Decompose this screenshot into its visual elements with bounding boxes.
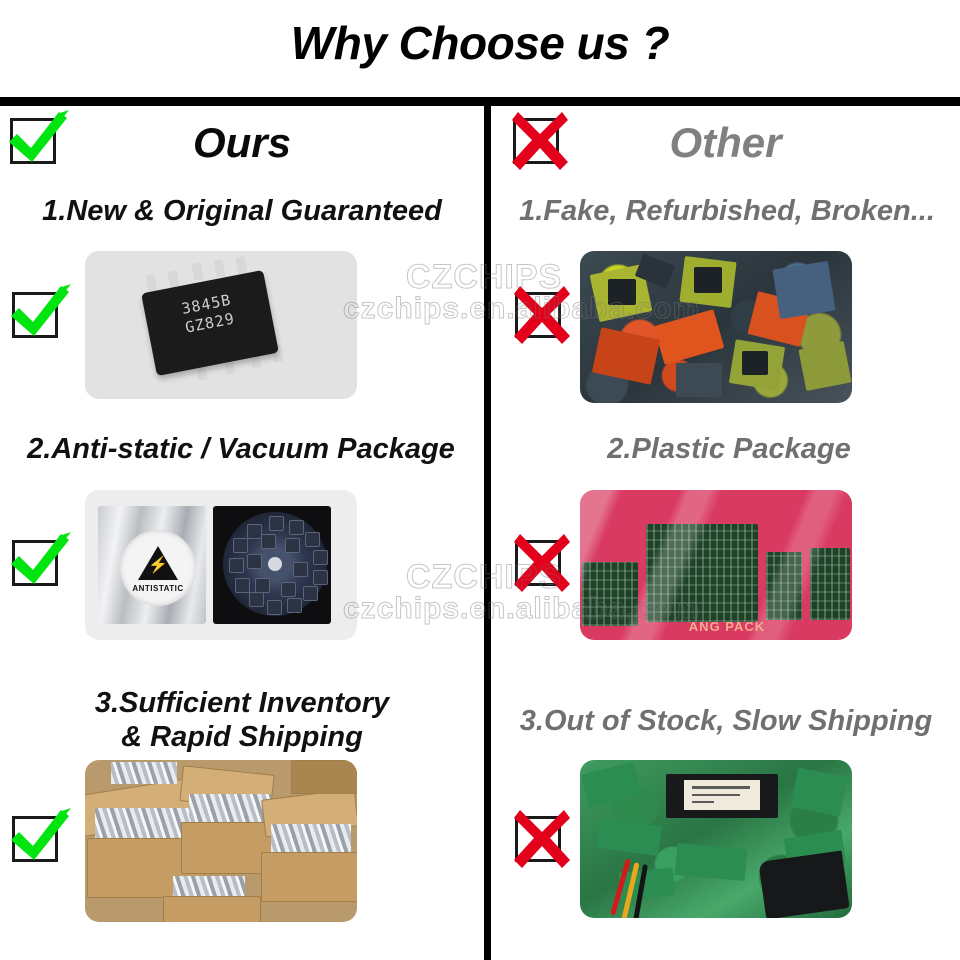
esd-caption-text: ANTISTATIC	[120, 584, 196, 593]
column-other: Other 1.Fake, Refurbished, Broken... 2.P…	[491, 106, 960, 960]
scrap-chips-photo	[580, 251, 852, 403]
feature-label-other-1: 1.Fake, Refurbished, Broken...	[497, 194, 957, 228]
plastic-bag-photo: ANG PACK	[580, 490, 852, 640]
check-mark-ours-3	[12, 816, 58, 862]
cross-mark-header	[513, 118, 559, 164]
column-heading-ours: Ours	[0, 112, 484, 174]
feature-label-ours-1: 1.New & Original Guaranteed	[8, 194, 476, 228]
waste-module	[666, 774, 778, 818]
stock-cartons-photo	[85, 760, 357, 922]
check-icon	[3, 802, 75, 874]
check-mark-ours-1	[12, 292, 58, 338]
page-title: Why Choose us ?	[0, 8, 960, 78]
reel-hub	[268, 557, 282, 571]
cross-icon	[506, 802, 578, 874]
lightning-bolt-icon: ⚡	[148, 558, 168, 574]
cross-icon	[506, 526, 578, 598]
check-icon	[3, 526, 75, 598]
waste-black-pad	[758, 850, 849, 918]
chip-marking-text: 3845B GZ829	[144, 284, 273, 345]
component-reel-tray	[213, 506, 331, 624]
cross-icon	[506, 278, 578, 350]
column-ours: Ours 1.New & Original Guaranteed 3845B G…	[0, 106, 484, 960]
ewaste-photo	[580, 760, 852, 918]
antistatic-bag-photo: ⚡ ANTISTATIC	[85, 490, 357, 640]
esd-label-disc: ⚡ ANTISTATIC	[120, 530, 196, 606]
header-divider-horizontal	[0, 97, 960, 106]
reel-disc	[223, 512, 327, 616]
column-divider-vertical	[484, 104, 491, 960]
column-heading-other: Other	[491, 112, 960, 174]
waste-module-label	[684, 780, 760, 810]
cross-mark-other-3	[515, 816, 561, 862]
ic-chip-photo: 3845B GZ829	[85, 251, 357, 399]
foil-bag: ⚡ ANTISTATIC	[98, 506, 206, 624]
cross-mark-other-2	[515, 540, 561, 586]
check-mark-header	[10, 118, 56, 164]
cross-mark-other-1	[515, 292, 561, 338]
feature-label-ours-2: 2.Anti-static / Vacuum Package	[4, 432, 478, 466]
plastic-bag-caption: ANG PACK	[689, 619, 765, 634]
check-icon	[3, 278, 75, 350]
check-mark-ours-2	[12, 540, 58, 586]
feature-label-other-2: 2.Plastic Package	[519, 432, 939, 466]
feature-label-other-3: 3.Out of Stock, Slow Shipping	[493, 704, 959, 738]
bag-sheen	[580, 490, 852, 640]
feature-label-ours-3: 3.Sufficient Inventory & Rapid Shipping	[14, 686, 470, 754]
